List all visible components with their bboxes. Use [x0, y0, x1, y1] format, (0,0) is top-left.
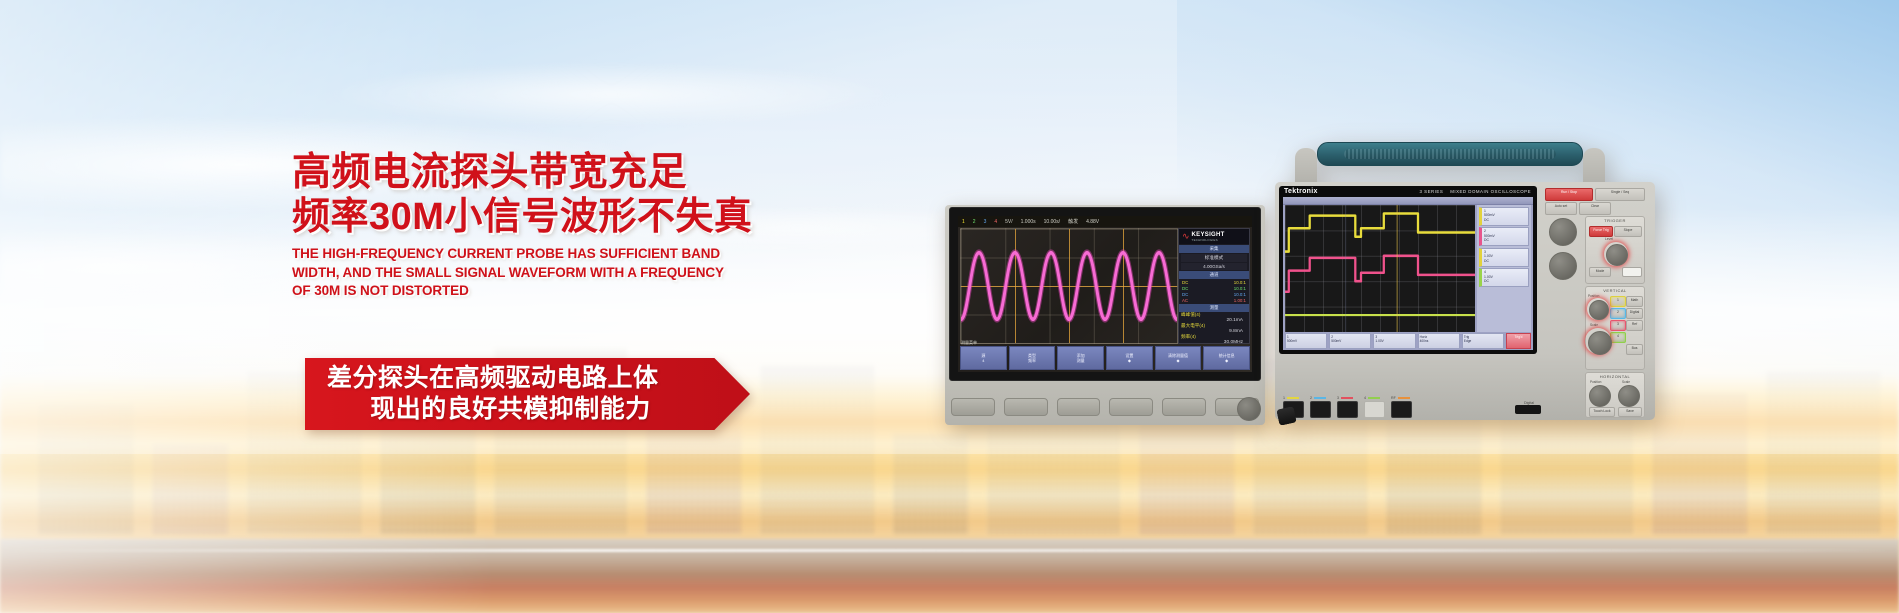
port-ch4-socket[interactable] — [1364, 401, 1385, 418]
ch2-ratio: 10.0:1 — [1234, 286, 1246, 291]
model-series: 3 SERIES — [1420, 189, 1444, 194]
port-ch4-num: 4 — [1364, 396, 1366, 400]
port-ch2-color-bar — [1314, 397, 1326, 399]
handle-grip[interactable] — [1317, 142, 1583, 166]
touch-lock-button[interactable]: Touch Lock — [1589, 407, 1615, 417]
menu-trig[interactable]: Trig Edge — [1462, 333, 1504, 349]
port-ch1-label: 1 — [1283, 396, 1305, 400]
softkey-settings-l2: ◆ — [1128, 358, 1131, 364]
menu-ch3[interactable]: 3 1.00V — [1373, 333, 1415, 349]
save-button[interactable]: Save — [1618, 407, 1642, 417]
keysight-brand: KEYSIGHT — [1192, 232, 1225, 238]
badge-ch1-coupling: DC — [1484, 218, 1526, 223]
port-ch2-socket[interactable] — [1310, 401, 1331, 418]
screen-top-bar — [1283, 197, 1533, 205]
measure-2: 最大电平(4) 9.8mA — [1179, 323, 1249, 334]
port-ch4-color-bar — [1368, 397, 1380, 399]
tektronix-channel-badges: 1 500mV DC 2 500mV DC 3 1.00V DC — [1477, 205, 1531, 332]
softkey-type-l2: 频率 — [1028, 358, 1036, 364]
hardkey-1[interactable] — [951, 398, 995, 416]
vertical-ch1-button[interactable]: 1 — [1610, 296, 1626, 307]
tektronix-bezel: Tektronix 3 SERIES MIXED DOMAIN OSCILLOS… — [1279, 186, 1537, 354]
headline-line-2: 频率30M小信号波形不失真 — [292, 195, 762, 240]
trigger-slope-button[interactable]: Slope — [1614, 226, 1642, 237]
acq-mode: 标准模式 — [1181, 254, 1247, 262]
headline-block: 高频电流探头带宽充足 频率30M小信号波形不失真 THE HIGH-FREQUE… — [292, 150, 762, 301]
vertical-group: VERTICAL 1 Math 2 Digital 3 Ref 4 Bus Po… — [1585, 286, 1645, 370]
subtitle-line-2: WIDTH, AND THE SMALL SIGNAL WAVEFORM WIT… — [292, 264, 762, 283]
level-label: Level — [1605, 237, 1613, 241]
menu-ch3-l2: 1.00V — [1375, 339, 1413, 343]
trigger-group-label: TRIGGER — [1586, 217, 1644, 223]
digital-waveform-traces — [1285, 205, 1475, 332]
ribbon-callout: 差分探头在高频驱动电路上体 现出的良好共模抑制能力 — [305, 358, 750, 430]
port-ch3-num: 3 — [1337, 396, 1339, 400]
acq-rate: 4.00GSa/s — [1181, 263, 1247, 270]
readout-delay: 1.000s — [1021, 219, 1036, 225]
keysight-hardkey-row — [951, 395, 1259, 419]
measure-header: 测量 — [1179, 304, 1249, 312]
digital-port[interactable]: Digital — [1515, 401, 1543, 414]
channel-indicator-2: 2 — [973, 219, 976, 225]
ch1-ratio: 10.0:1 — [1234, 280, 1246, 285]
menu-ch1-l2: 500mV — [1287, 339, 1325, 343]
hardkey-3[interactable] — [1057, 398, 1101, 416]
horizontal-scale-knob[interactable] — [1618, 385, 1640, 407]
single-seq-button[interactable]: Single / Seq — [1595, 188, 1645, 201]
vertical-position-knob[interactable] — [1589, 300, 1609, 320]
horizontal-group: HORIZONTAL Position Scale Touch Lock Sav… — [1585, 372, 1645, 418]
menu-ch1[interactable]: 1 500mV — [1285, 333, 1327, 349]
badge-ch3[interactable]: 3 1.00V DC — [1479, 248, 1529, 267]
ribbon-line-2: 现出的良好共模抑制能力 — [327, 394, 750, 425]
menu-horiz-l2: 400ns — [1420, 339, 1458, 343]
trigger-mode-button[interactable]: Mode — [1589, 267, 1611, 277]
badge-ch3-coupling: DC — [1484, 259, 1526, 264]
ref-button[interactable]: Ref — [1626, 320, 1643, 331]
keysight-softkey-row: 源 4 类型 频率 添加 测量 设置 ◆ — [960, 346, 1250, 370]
vertical-ch3-button[interactable]: 3 — [1610, 320, 1626, 331]
menu-ch2-l2: 500mV — [1331, 339, 1369, 343]
ch4-coupling: AC — [1182, 298, 1188, 303]
badge-ch2-coupling: DC — [1484, 238, 1526, 243]
port-rf[interactable]: RF — [1391, 396, 1413, 418]
ch3-coupling: DC — [1182, 292, 1188, 297]
channel-header: 通道 — [1179, 271, 1249, 279]
port-ch2-num: 2 — [1310, 396, 1312, 400]
softkey-clear-l2: ◆ — [1176, 358, 1179, 364]
sine-waveform-trace — [961, 229, 1177, 343]
keysight-bezel: 1 2 3 4 5V/ 1.000s 10.00s/ 触发 4.88V — [949, 207, 1261, 381]
horizontal-scale-label: Scale — [1622, 380, 1630, 384]
model-name: MIXED DOMAIN OSCILLOSCOPE — [1450, 189, 1531, 194]
hardkey-4[interactable] — [1109, 398, 1153, 416]
ribbon-text-block: 差分探头在高频驱动电路上体 现出的良好共模抑制能力 — [305, 358, 750, 430]
autoset-button[interactable]: Auto set — [1545, 202, 1577, 215]
vertical-ch4-button[interactable]: 4 — [1610, 332, 1626, 343]
port-ch2[interactable]: 2 — [1310, 396, 1332, 418]
road-highlight-line — [0, 549, 1899, 552]
vertical-scale-label: Scale — [1590, 323, 1598, 327]
port-rf-color-bar — [1398, 397, 1410, 399]
softkey-type[interactable]: 类型 频率 — [1009, 346, 1056, 370]
digital-port-socket[interactable] — [1515, 405, 1541, 414]
trigger-indicator — [1622, 267, 1642, 277]
menu-ch2[interactable]: 2 500mV — [1329, 333, 1371, 349]
port-ch3-socket[interactable] — [1337, 401, 1358, 418]
keysight-wave-icon: ∿ — [1182, 232, 1190, 241]
softkey-stats[interactable]: 统计信息 ◆ — [1203, 346, 1250, 370]
multipurpose-knob-a[interactable] — [1549, 218, 1577, 246]
carry-handle[interactable] — [1295, 140, 1605, 186]
force-trig-button[interactable]: Force Trig — [1589, 226, 1613, 237]
softkey-add[interactable]: 添加 测量 — [1057, 346, 1104, 370]
port-ch3[interactable]: 3 — [1337, 396, 1359, 418]
ch1-coupling: DC — [1182, 280, 1188, 285]
ch2-coupling: DC — [1182, 286, 1188, 291]
port-ch4-label: 4 — [1364, 396, 1386, 400]
channel-indicator-3: 3 — [984, 219, 987, 225]
softkey-stats-l2: ◆ — [1225, 358, 1228, 364]
multipurpose-knob-b[interactable] — [1549, 252, 1577, 280]
trigger-group: TRIGGER Force Trig Slope Level Mode — [1585, 216, 1645, 284]
tektronix-bottom-menu: 1 500mV 2 500mV 3 1.00V Horiz — [1285, 333, 1531, 349]
tektronix-input-ports: 1 2 — [1277, 390, 1547, 418]
tektronix-control-panel: Run / Stop Single / Seq Auto set Clear T… — [1541, 186, 1649, 390]
tektronix-chassis: Tektronix 3 SERIES MIXED DOMAIN OSCILLOS… — [1275, 182, 1655, 420]
softkey-source[interactable]: 源 4 — [960, 346, 1007, 370]
acq-header: 采集 — [1179, 245, 1249, 253]
math-button[interactable]: Math — [1626, 296, 1643, 307]
hardkey-2[interactable] — [1004, 398, 1048, 416]
screen-run-indicator[interactable]: Trig'd — [1506, 333, 1531, 349]
softkey-clear[interactable]: 清除测量值 ◆ — [1155, 346, 1202, 370]
measure-3-value: 30.0MHz — [1181, 340, 1247, 344]
vertical-group-label: VERTICAL — [1586, 287, 1644, 293]
tektronix-screen[interactable]: 1 500mV DC 2 500mV DC 3 1.00V DC — [1283, 197, 1533, 350]
ch3-ratio: 10.0:1 — [1234, 292, 1246, 297]
softkey-settings[interactable]: 设置 ◆ — [1106, 346, 1153, 370]
keysight-sidebar: ∿ KEYSIGHT TECHNOLOGIES 采集 标准模式 4.00GSa/… — [1178, 228, 1250, 344]
port-ch1-num: 1 — [1283, 396, 1285, 400]
readout-trig: 触发 — [1068, 218, 1078, 225]
port-ch2-label: 2 — [1310, 396, 1332, 400]
keysight-waveform-grid — [960, 228, 1178, 344]
port-ch3-label: 3 — [1337, 396, 1359, 400]
subtitle-block: THE HIGH-FREQUENCY CURRENT PROBE HAS SUF… — [292, 245, 762, 301]
keysight-screen: 1 2 3 4 5V/ 1.000s 10.00s/ 触发 4.88V — [958, 216, 1252, 372]
trigger-level-knob[interactable] — [1606, 244, 1628, 266]
measure-1: 峰峰值(4) 20.1mA — [1179, 312, 1249, 323]
run-stop-button[interactable]: Run / Stop — [1545, 188, 1593, 201]
menu-horiz[interactable]: Horiz 400ns — [1418, 333, 1460, 349]
hardkey-5[interactable] — [1162, 398, 1206, 416]
menu-trig-l2: Edge — [1464, 339, 1502, 343]
tektronix-model: 3 SERIES MIXED DOMAIN OSCILLOSCOPE — [1420, 189, 1531, 194]
readout-vdiv: 5V/ — [1005, 219, 1013, 225]
badge-ch2[interactable]: 2 500mV DC — [1479, 227, 1529, 246]
horizontal-group-label: HORIZONTAL — [1586, 373, 1644, 379]
channel-indicator-1: 1 — [962, 219, 965, 225]
promo-banner: 高频电流探头带宽充足 频率30M小信号波形不失真 THE HIGH-FREQUE… — [0, 0, 1899, 613]
badge-ch4[interactable]: 4 1.00V DC — [1479, 268, 1529, 287]
ribbon-line-1: 差分探头在高频驱动电路上体 — [327, 363, 750, 394]
tektronix-oscilloscope: Tektronix 3 SERIES MIXED DOMAIN OSCILLOS… — [1275, 140, 1655, 420]
headline-line-1: 高频电流探头带宽充足 — [292, 150, 762, 195]
keysight-oscilloscope: 1 2 3 4 5V/ 1.000s 10.00s/ 触发 4.88V — [945, 205, 1265, 425]
readout-level: 4.88V — [1086, 219, 1099, 225]
port-rf-label: RF — [1391, 396, 1413, 400]
vertical-scale-knob[interactable] — [1588, 331, 1612, 355]
digital-button[interactable]: Digital — [1626, 308, 1643, 319]
keysight-tagline: TECHNOLOGIES — [1192, 238, 1225, 242]
badge-ch4-coupling: DC — [1484, 279, 1526, 284]
port-ch4[interactable]: 4 — [1364, 396, 1386, 418]
vertical-ch2-button[interactable]: 2 — [1610, 308, 1626, 319]
badge-ch1[interactable]: 1 500mV DC — [1479, 207, 1529, 226]
ch4-ratio: 1.00:1 — [1234, 298, 1246, 303]
softkey-add-l2: 测量 — [1077, 358, 1085, 364]
horizontal-position-knob[interactable] — [1589, 385, 1611, 407]
port-ch3-color-bar — [1341, 397, 1353, 399]
bus-button[interactable]: Bus — [1626, 344, 1643, 355]
port-ch1-color-bar — [1287, 397, 1299, 399]
channel-indicator-4: 4 — [994, 219, 997, 225]
subtitle-line-3: OF 30M IS NOT DISTORTED — [292, 282, 762, 301]
clear-button[interactable]: Clear — [1579, 202, 1611, 215]
keysight-logo: ∿ KEYSIGHT TECHNOLOGIES — [1179, 229, 1249, 244]
softkey-source-l2: 4 — [982, 358, 984, 364]
subtitle-line-1: THE HIGH-FREQUENCY CURRENT PROBE HAS SUF… — [292, 245, 762, 264]
keysight-status-bar: 1 2 3 4 5V/ 1.000s 10.00s/ 触发 4.88V — [958, 216, 1252, 227]
horizontal-position-label: Position — [1590, 380, 1601, 384]
port-rf-socket[interactable] — [1391, 401, 1412, 418]
keysight-entry-knob[interactable] — [1237, 397, 1261, 421]
measure-3: 频率(4) 30.0MHz — [1179, 334, 1249, 344]
channel-row: AC 1.00:1 — [1179, 297, 1249, 303]
port-rf-num: RF — [1391, 396, 1396, 400]
tektronix-brand: Tektronix — [1284, 188, 1318, 195]
tektronix-waveform-grid — [1285, 205, 1475, 332]
readout-tdiv: 10.00s/ — [1044, 219, 1060, 225]
